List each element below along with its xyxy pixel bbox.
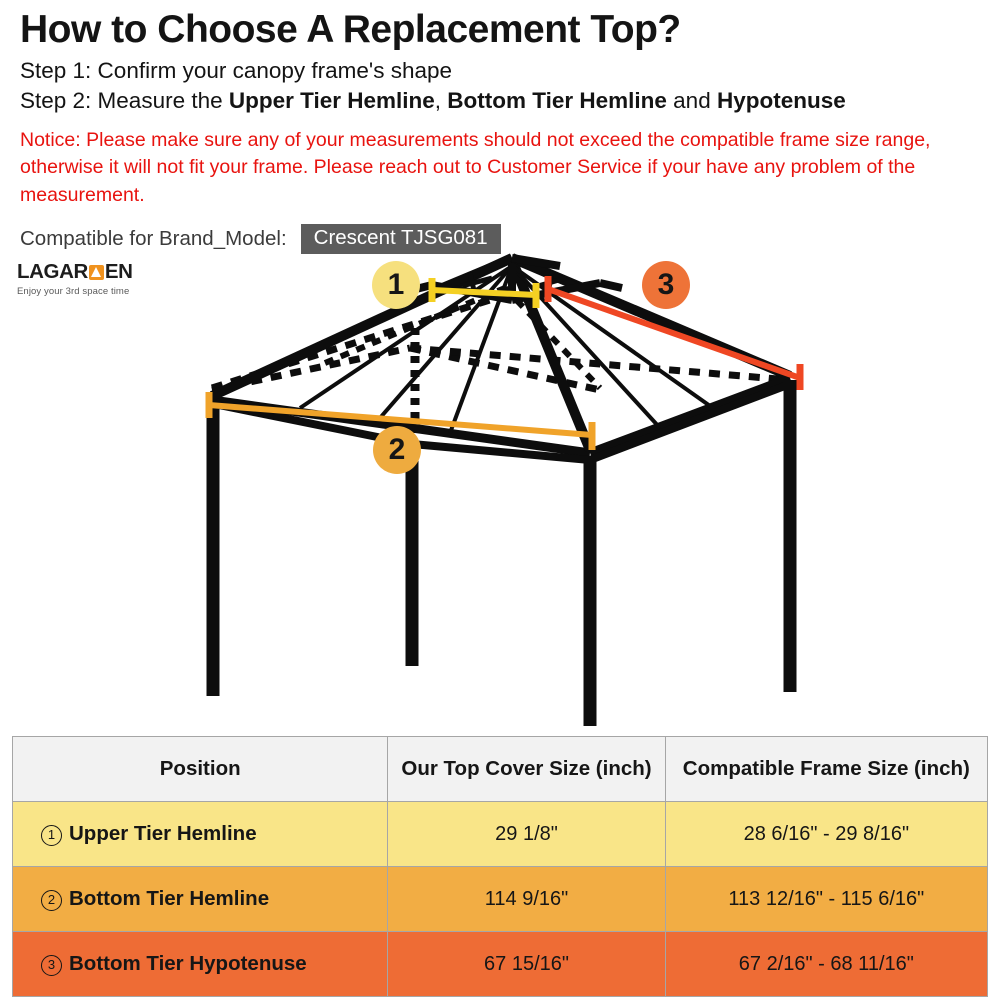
row-3-position-label: Bottom Tier Hypotenuse: [69, 952, 307, 975]
table-row: 3Bottom Tier Hypotenuse 67 15/16" 67 2/1…: [13, 932, 988, 997]
roof-edge-front-right: [590, 378, 790, 453]
step-2-text: Step 2: Measure the Upper Tier Hemline, …: [20, 86, 980, 116]
upper-eave-right-tip: [600, 283, 622, 288]
step-1-text: Step 1: Confirm your canopy frame's shap…: [20, 56, 980, 86]
size-table-head: Position Our Top Cover Size (inch) Compa…: [13, 737, 988, 802]
canopy-frame-svg: [0, 248, 1000, 728]
callout-badge-3: 3: [642, 261, 690, 309]
header-block: How to Choose A Replacement Top? Step 1:…: [20, 8, 980, 210]
header-our-size: Our Top Cover Size (inch): [388, 737, 665, 802]
callout-badge-2-label: 2: [389, 433, 406, 467]
step-2-sep-1: ,: [435, 88, 448, 113]
row-3-frame-size: 67 2/16" - 68 11/16": [665, 932, 987, 997]
table-header-row: Position Our Top Cover Size (inch) Compa…: [13, 737, 988, 802]
row-3-number-ring: 3: [41, 955, 62, 976]
step-2-sep-2: and: [667, 88, 717, 113]
row-1-our-size: 29 1/8": [388, 802, 665, 867]
row-3-our-size: 67 15/16": [388, 932, 665, 997]
row-2-position-cell: 2Bottom Tier Hemline: [13, 867, 388, 932]
header-frame-size: Compatible Frame Size (inch): [665, 737, 987, 802]
row-2-number-ring: 2: [41, 890, 62, 911]
callout-badge-1: 1: [372, 261, 420, 309]
size-table: Position Our Top Cover Size (inch) Compa…: [12, 736, 988, 997]
row-1-position-cell: 1Upper Tier Hemline: [13, 802, 388, 867]
callout-badge-3-label: 3: [658, 268, 675, 302]
row-3-position-cell: 3Bottom Tier Hypotenuse: [13, 932, 388, 997]
step-2-term-hypotenuse: Hypotenuse: [717, 88, 846, 113]
callout-badge-1-label: 1: [388, 268, 405, 302]
table-row: 1Upper Tier Hemline 29 1/8" 28 6/16" - 2…: [13, 802, 988, 867]
canopy-frame-diagram: 1 2 3: [0, 248, 1000, 728]
table-row: 2Bottom Tier Hemline 114 9/16" 113 12/16…: [13, 867, 988, 932]
row-2-position-label: Bottom Tier Hemline: [69, 887, 269, 910]
size-table-body: 1Upper Tier Hemline 29 1/8" 28 6/16" - 2…: [13, 802, 988, 997]
step-2-prefix: Step 2: Measure the: [20, 88, 229, 113]
step-2-term-upper: Upper Tier Hemline: [229, 88, 435, 113]
row-1-frame-size: 28 6/16" - 29 8/16": [665, 802, 987, 867]
notice-text: Notice: Please make sure any of your mea…: [20, 127, 965, 211]
header-rail-right: [590, 384, 790, 460]
header-position: Position: [13, 737, 388, 802]
header-rails: [214, 384, 790, 460]
frame-posts: [213, 380, 790, 726]
frame-group: [212, 258, 790, 726]
row-1-number-ring: 1: [41, 825, 62, 846]
row-2-frame-size: 113 12/16" - 115 6/16": [665, 867, 987, 932]
step-2-term-bottom: Bottom Tier Hemline: [447, 88, 667, 113]
product-size-guide-page: How to Choose A Replacement Top? Step 1:…: [0, 0, 1000, 1000]
page-title: How to Choose A Replacement Top?: [20, 8, 980, 52]
callout-badge-2: 2: [373, 426, 421, 474]
row-2-our-size: 114 9/16": [388, 867, 665, 932]
row-1-position-label: Upper Tier Hemline: [69, 822, 257, 845]
